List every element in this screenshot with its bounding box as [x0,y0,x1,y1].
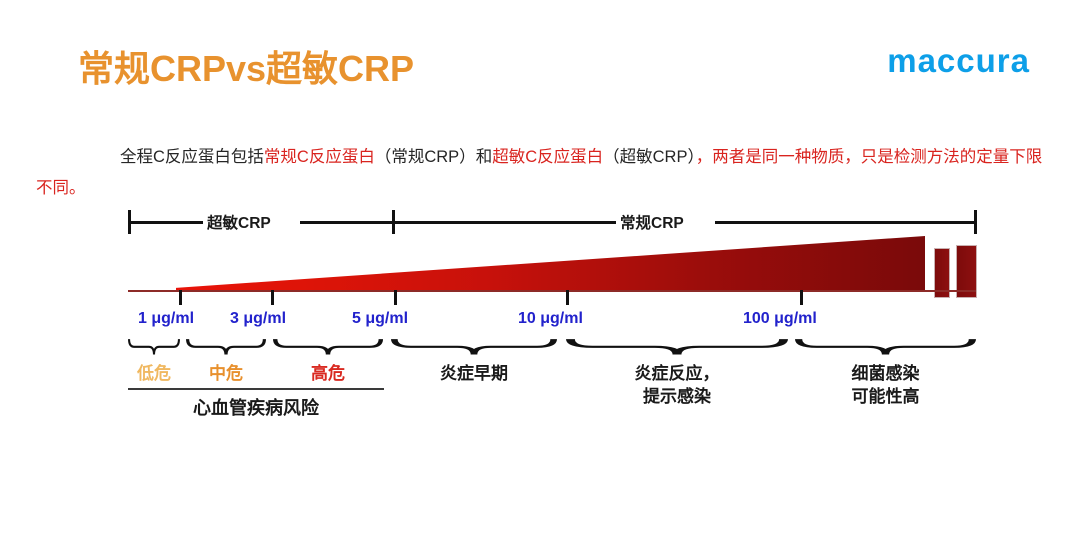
brace-inflammatory-response [566,338,788,360]
scale-tick-3 [271,290,274,305]
scale-line [128,290,976,292]
concentration-wedge [176,236,925,290]
scale-label-1: 1 μg/ml [138,310,194,328]
category-inflammatory-response-line1: 炎症反应， [566,362,788,385]
brace-high [273,338,383,360]
page-title: 常规CRPvs超敏CRP [78,40,414,92]
scale-label-10: 10 μg/ml [518,310,583,328]
para-seg-1: 全程C反应蛋白包括 [120,148,264,166]
maccura-logo: maccura [887,42,1030,80]
scale-tick-100 [800,290,803,305]
gradient-wedge-area [0,236,1080,298]
category-high-risk: 高危 [273,362,383,385]
scale-tick-5 [394,290,397,305]
para-seg-3: （常规CRP） [375,148,476,166]
brace-low [128,338,180,360]
brace-row [0,338,1080,362]
category-inflammatory-response-line2: 提示感染 [566,385,788,408]
top-tick-right [974,210,977,234]
scale-label-3: 3 μg/ml [230,310,286,328]
scale-tick-1 [179,290,182,305]
top-line-1 [128,221,203,224]
scale-label-5: 5 μg/ml [352,310,408,328]
intro-paragraph: 全程C反应蛋白包括常规C反应蛋白（常规CRP）和超敏C反应蛋白（超敏CRP），两… [36,142,1046,204]
scale-axis: 1 μg/ml 3 μg/ml 5 μg/ml 10 μg/ml 100 μg/… [0,290,1080,320]
brace-mid [186,338,266,360]
cvd-risk-underline [128,388,384,390]
category-labels: 低危 中危 高危 心血管疾病风险 炎症早期 炎症反应， 提示感染 细菌感染 可能… [0,362,1080,442]
brace-bacterial-infection [795,338,976,360]
top-label-hscrp: 超敏CRP [207,211,271,233]
category-mid-risk: 中危 [186,362,266,385]
top-line-4 [715,221,976,224]
category-early-inflammation: 炎症早期 [391,362,557,385]
para-seg-2: 常规C反应蛋白 [264,148,375,166]
para-seg-5: 超敏C反应蛋白 [492,148,603,166]
slide: 常规CRPvs超敏CRP maccura 全程C反应蛋白包括常规C反应蛋白（常规… [0,0,1080,542]
cvd-risk-label: 心血管疾病风险 [128,394,384,420]
top-line-2 [300,221,393,224]
crp-scale-figure: 超敏CRP 常规CRP 1 μg/ml 3 μg/ml 5 μg/ml 10 μ… [0,206,1080,436]
scale-tick-10 [566,290,569,305]
brace-early-inflammation [391,338,557,360]
para-seg-4: 和 [476,148,493,166]
category-bacterial-infection-line2: 可能性高 [795,385,976,408]
top-label-crp: 常规CRP [620,211,684,233]
category-bacterial-infection: 细菌感染 可能性高 [795,362,976,408]
category-low-risk: 低危 [128,362,180,385]
category-inflammatory-response: 炎症反应， 提示感染 [566,362,788,408]
category-bacterial-infection-line1: 细菌感染 [795,362,976,385]
top-line-3 [394,221,616,224]
para-seg-6: （超敏CRP） [603,148,696,166]
scale-label-100: 100 μg/ml [743,310,817,328]
